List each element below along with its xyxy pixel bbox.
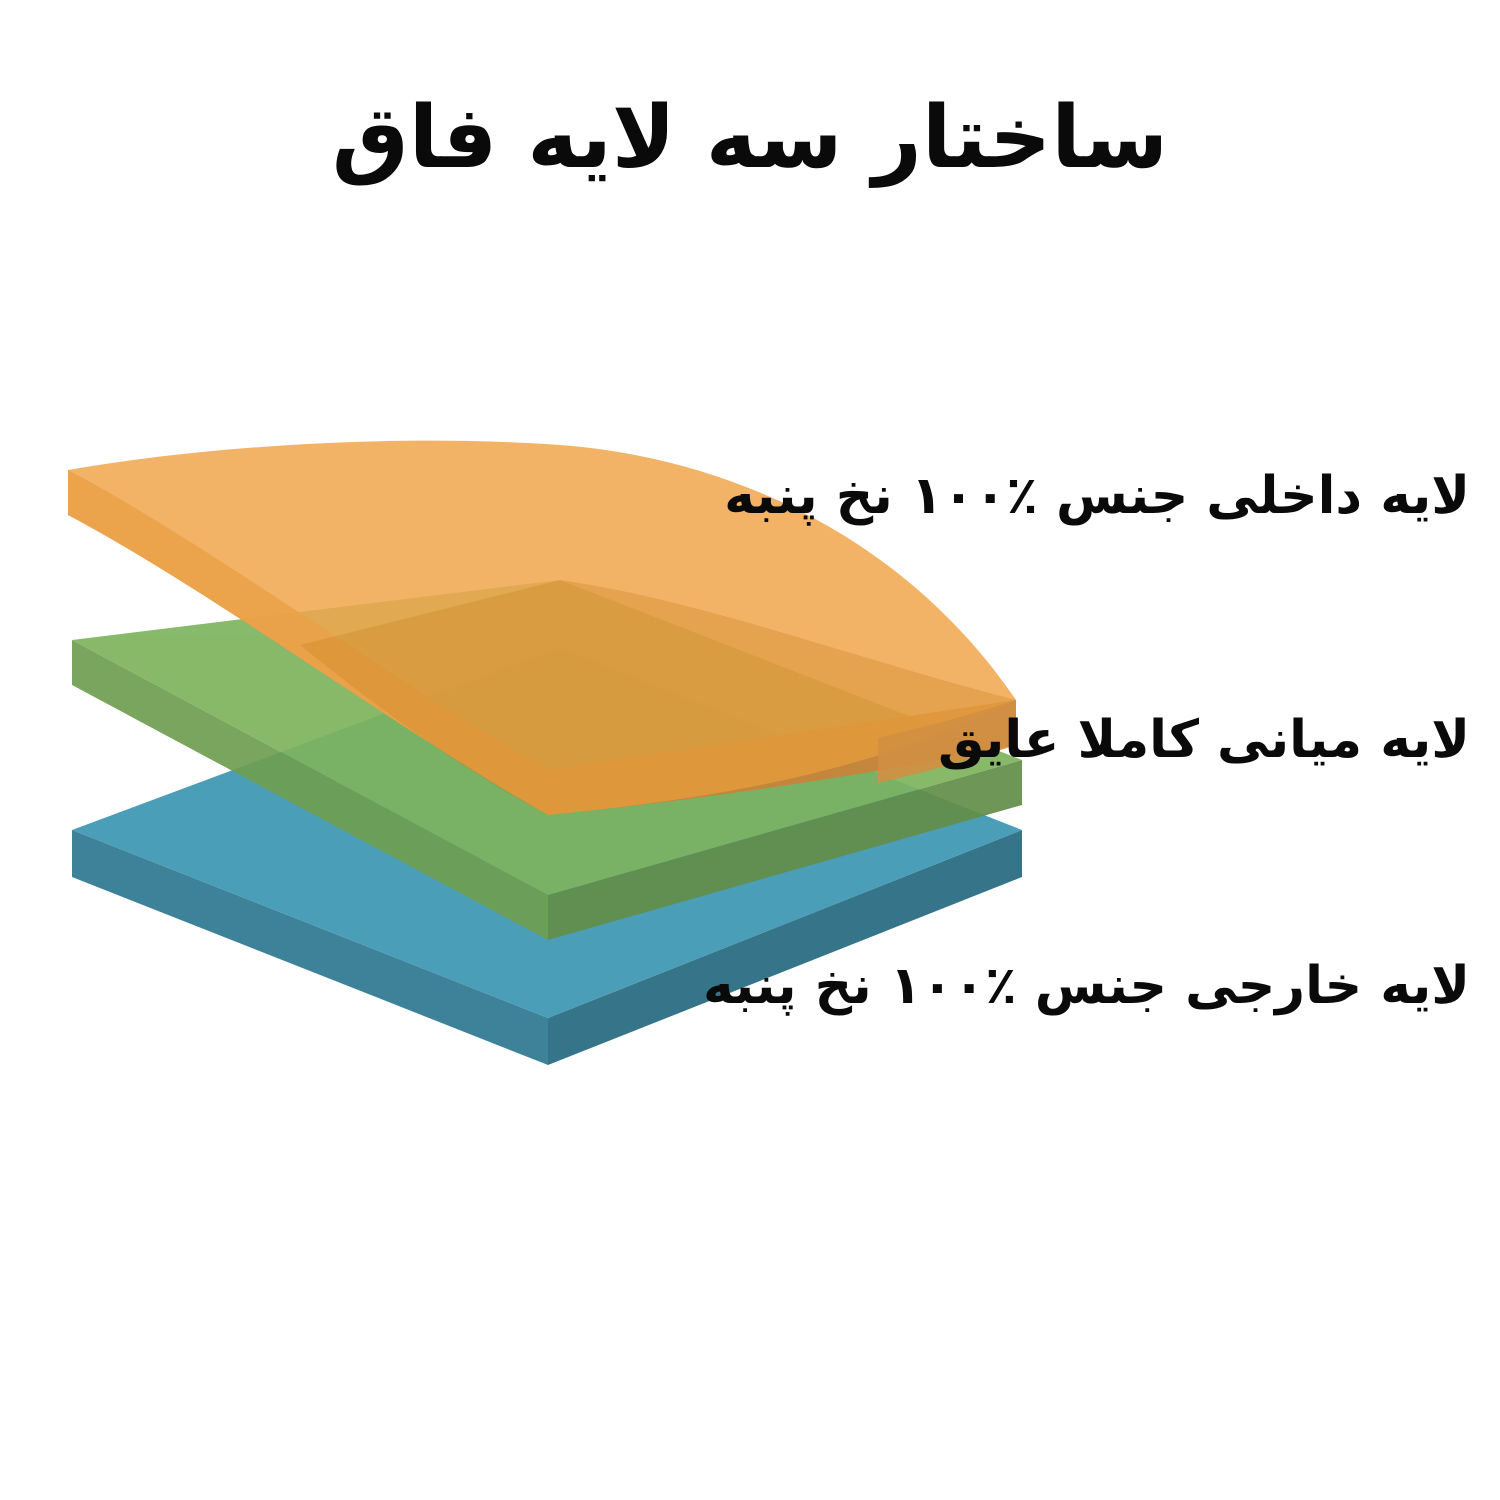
outer-layer-label: لایه خارجی جنس ٪۱۰۰ نخ پنبه [703, 958, 1470, 1015]
diagram-canvas: ساختار سه لایه فاق [0, 0, 1500, 1500]
inner-layer-label: لایه داخلی جنس ٪۱۰۰ نخ پنبه [724, 468, 1470, 525]
middle-layer-shape [72, 580, 1022, 940]
page-title: ساختار سه لایه فاق [0, 92, 1500, 185]
middle-layer-label: لایه میانی کاملا عایق [938, 712, 1470, 769]
